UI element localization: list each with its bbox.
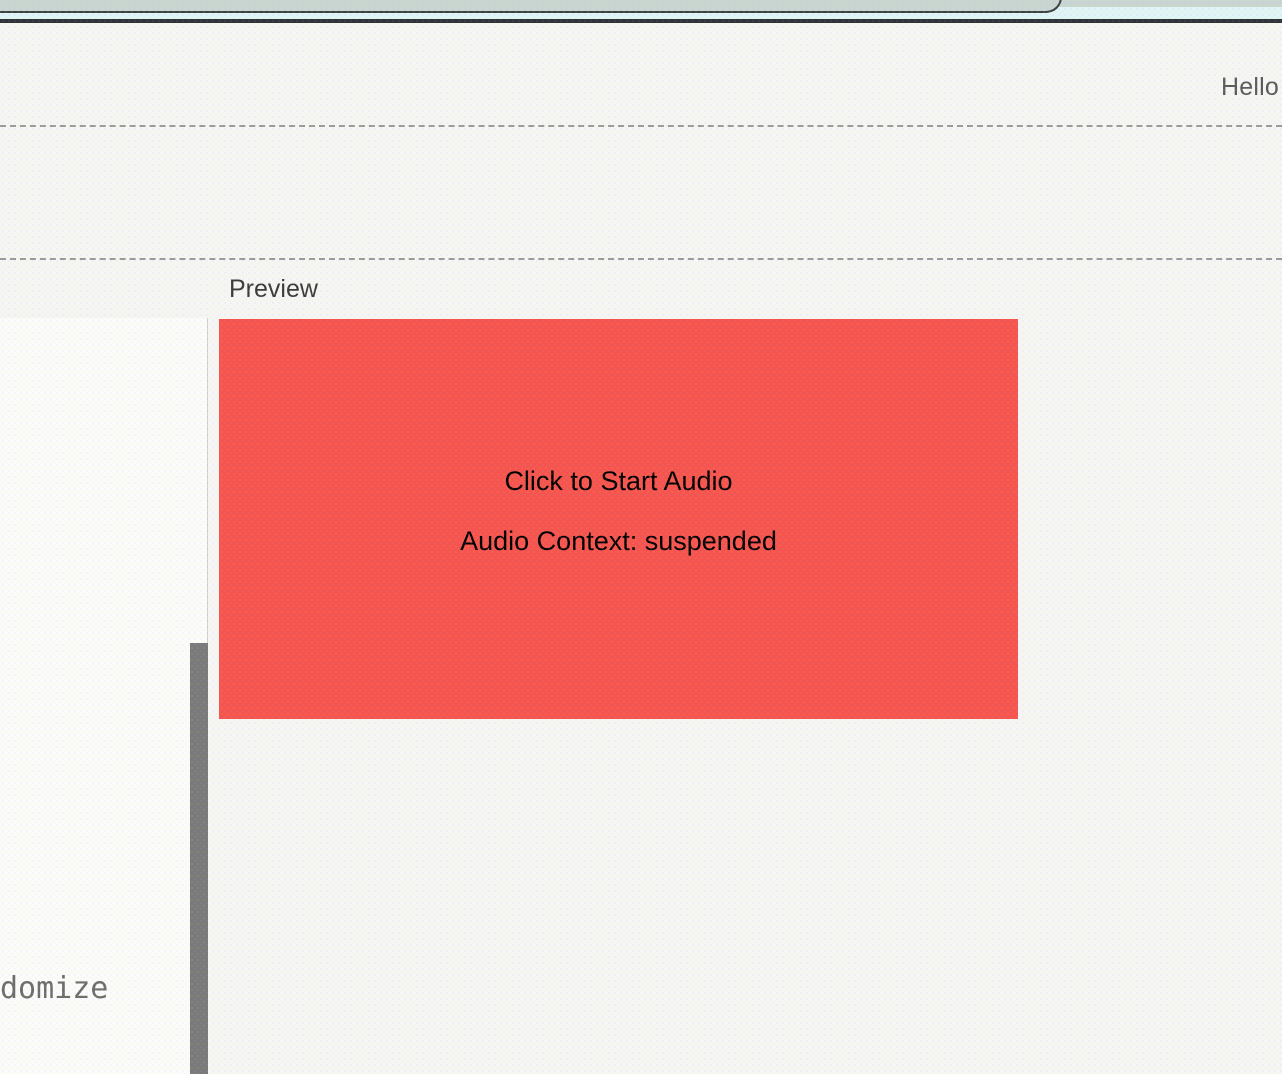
app-root: Hello - 20); idth / 2, domize Preview Cl… (0, 0, 1282, 1074)
greeting-text: Hello (1221, 73, 1279, 102)
dashed-separator-top (0, 125, 1282, 127)
browser-tab[interactable] (0, 0, 1062, 13)
start-audio-prompt: Click to Start Audio (219, 451, 1018, 511)
preview-canvas[interactable]: Click to Start Audio Audio Context: susp… (219, 319, 1018, 719)
dashed-separator-bottom (0, 258, 1282, 260)
audio-context-status: Audio Context: suspended (219, 511, 1018, 571)
preview-canvas-text: Click to Start Audio Audio Context: susp… (219, 451, 1018, 571)
page-body: Hello - 20); idth / 2, domize Preview Cl… (0, 23, 1282, 1074)
code-editor-pane[interactable]: - 20); idth / 2, (0, 318, 208, 1074)
randomize-button-label[interactable]: domize (0, 971, 108, 1006)
vertical-scrollbar[interactable] (190, 643, 208, 1074)
preview-pane-label: Preview (229, 275, 318, 304)
